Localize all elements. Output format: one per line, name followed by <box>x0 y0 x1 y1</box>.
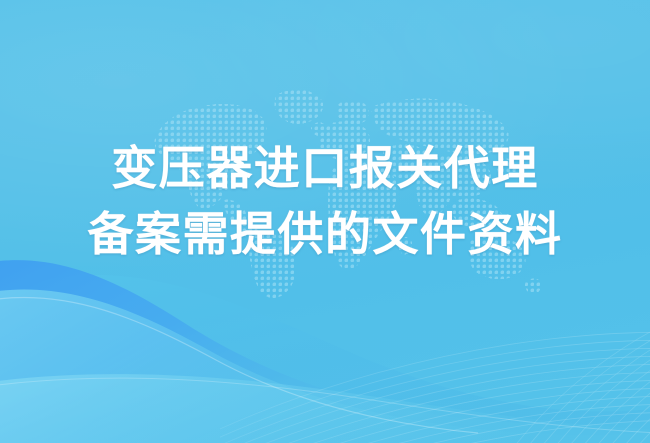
banner-image: 变压器进口报关代理 备案需提供的文件资料 <box>0 0 650 443</box>
headline-block: 变压器进口报关代理 备案需提供的文件资料 <box>0 137 650 265</box>
headline-line-1: 变压器进口报关代理 <box>0 137 650 199</box>
headline-line-2: 备案需提供的文件资料 <box>0 203 650 265</box>
